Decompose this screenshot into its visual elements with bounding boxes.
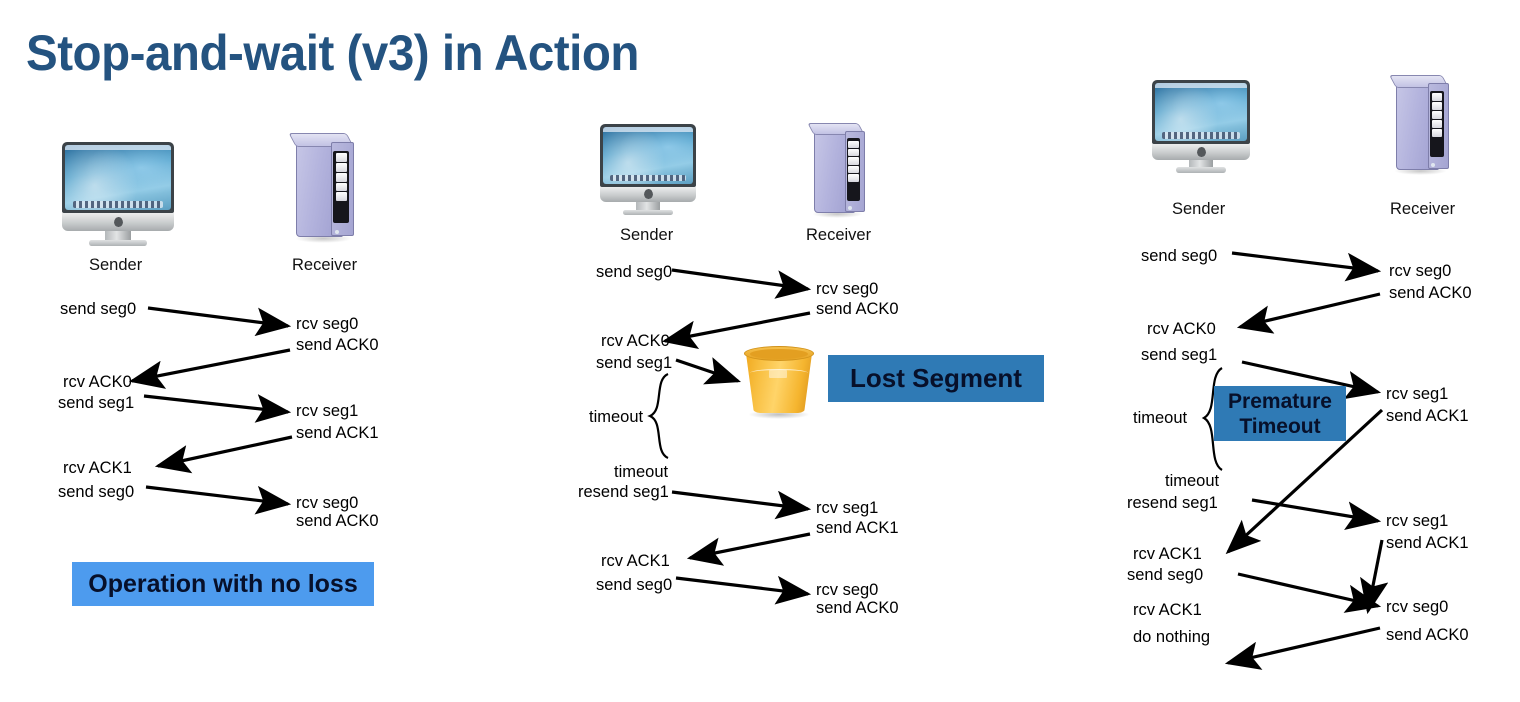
event-label: send seg0: [596, 262, 672, 282]
tower-drive-bay: [848, 141, 858, 149]
tower-drive-bay: [336, 192, 348, 201]
event-label: send ACK0: [816, 299, 899, 319]
imac-dock: [73, 201, 162, 208]
event-label: send seg1: [596, 353, 672, 373]
event-label: rcv ACK1: [63, 458, 132, 478]
tower-drive-bay: [1432, 102, 1443, 110]
event-label: rcv seg0: [1386, 597, 1448, 617]
sender-label: Sender: [620, 226, 673, 245]
event-label: resend seg1: [1127, 493, 1218, 513]
tower-drive-bay: [336, 173, 348, 182]
arrow-c1-ack1: [158, 437, 292, 466]
tower-drive-panel: [847, 138, 861, 201]
event-label: rcv seg1: [816, 498, 878, 518]
receiver-label: Receiver: [806, 226, 871, 245]
imac-chin: [1152, 144, 1250, 160]
event-label: send seg0: [596, 575, 672, 595]
event-label: send seg1: [1141, 345, 1217, 365]
tower-server-icon: [292, 132, 360, 242]
imac-stand-foot: [1176, 167, 1227, 173]
imac-computer-icon: [600, 124, 696, 216]
tower-drive-bay: [848, 166, 858, 174]
tower-drive-bay: [1432, 93, 1443, 101]
tower-drive-bay: [1432, 111, 1443, 119]
arrow-c2-seg0: [672, 270, 808, 289]
arrow-c2-resend: [672, 492, 808, 509]
arrow-c1-ack0: [132, 350, 290, 381]
arrow-c3-seg0: [1232, 253, 1378, 271]
event-label: rcv ACK1: [601, 551, 670, 571]
tower-drive-panel: [333, 151, 349, 224]
arrow-c1-seg0: [148, 308, 288, 326]
event-label: send ACK0: [1386, 625, 1469, 645]
event-label: send seg1: [58, 393, 134, 413]
imac-screen: [1152, 80, 1250, 144]
imac-menubar: [603, 127, 693, 132]
apple-logo-icon: [644, 189, 653, 199]
event-label: resend seg1: [578, 482, 669, 502]
event-label: rcv ACK1: [1133, 600, 1202, 620]
slide-canvas: Stop-and-wait (v3) in Action Sender Rece…: [0, 0, 1520, 702]
imac-screen: [600, 124, 696, 187]
event-label: rcv seg1: [1386, 511, 1448, 531]
tower-server-icon: [1392, 74, 1454, 174]
arrow-c2-seg1lost: [676, 360, 738, 381]
imac-screen: [62, 142, 174, 213]
arrow-c2-seg0b: [676, 578, 808, 594]
arrow-c3-seg0b: [1238, 574, 1378, 606]
sender-label: Sender: [89, 256, 142, 275]
tower-drive-bay: [1432, 129, 1443, 137]
arrow-c3-resend: [1252, 500, 1378, 521]
imac-dock: [1162, 132, 1239, 138]
event-label: rcv seg1: [296, 401, 358, 421]
event-label: rcv ACK0: [63, 372, 132, 392]
imac-stand-neck: [1189, 160, 1213, 168]
event-label: send ACK0: [296, 335, 379, 355]
event-label: rcv seg1: [1386, 384, 1448, 404]
event-label: rcv seg0: [296, 314, 358, 334]
trash-bin-icon: [742, 343, 816, 417]
arrow-c3-ack0b: [1228, 628, 1380, 663]
tower-drive-bay: [848, 157, 858, 165]
event-label: rcv seg0: [816, 580, 878, 600]
event-label: send ACK0: [1389, 283, 1472, 303]
event-label: rcv ACK1: [1133, 544, 1202, 564]
arrow-c1-seg0b: [146, 487, 288, 504]
event-label: send seg0: [1127, 565, 1203, 585]
tower-drive-bay: [1432, 120, 1443, 128]
imac-wallpaper: [603, 127, 693, 184]
arrow-c2-ack0: [665, 313, 810, 341]
apple-logo-icon: [114, 217, 123, 227]
imac-stand-neck: [636, 202, 659, 209]
event-label: send ACK1: [296, 423, 379, 443]
timeout-brace-label: timeout: [1133, 408, 1187, 428]
status-badge-lost-segment: Lost Segment: [828, 355, 1044, 402]
event-label: send ACK1: [1386, 406, 1469, 426]
event-label: send ACK1: [816, 518, 899, 538]
sender-label: Sender: [1172, 200, 1225, 219]
imac-menubar: [1155, 83, 1247, 88]
event-label: timeout: [1165, 471, 1219, 491]
imac-stand-neck: [105, 231, 132, 239]
imac-wallpaper: [1155, 83, 1247, 141]
imac-menubar: [65, 145, 171, 150]
imac-computer-icon: [1152, 80, 1250, 174]
imac-chin: [600, 187, 696, 203]
premature-line-1: Premature: [1228, 389, 1332, 414]
event-label: send seg0: [58, 482, 134, 502]
apple-logo-icon: [1197, 147, 1206, 157]
timeout-brace-c2: [650, 374, 668, 458]
event-label: send ACK1: [1386, 533, 1469, 553]
imac-wallpaper: [65, 145, 171, 210]
timeout-brace-label: timeout: [589, 407, 643, 427]
arrow-c3-ack0: [1240, 294, 1380, 327]
arrow-c2-ack1: [690, 534, 810, 558]
receiver-label: Receiver: [1390, 200, 1455, 219]
event-label: rcv ACK0: [601, 331, 670, 351]
event-label: rcv seg0: [1389, 261, 1451, 281]
tower-drive-bay: [848, 149, 858, 157]
trash-opening: [750, 349, 808, 359]
tower-drive-bay: [336, 153, 348, 162]
imac-dock: [610, 175, 686, 181]
event-label: send seg0: [60, 299, 136, 319]
receiver-label: Receiver: [292, 256, 357, 275]
arrow-c1-seg1: [144, 396, 288, 412]
tower-drive-bay: [848, 174, 858, 182]
tower-drive-panel: [1430, 91, 1444, 157]
trash-label: [769, 370, 787, 378]
event-label: rcv ACK0: [1147, 319, 1216, 339]
tower-drive-bay: [336, 163, 348, 172]
event-label: rcv seg0: [296, 493, 358, 513]
premature-line-2: Timeout: [1239, 414, 1320, 439]
imac-stand-foot: [89, 240, 147, 246]
imac-computer-icon: [62, 142, 174, 247]
event-label: timeout: [614, 462, 668, 482]
imac-stand-foot: [623, 210, 673, 216]
tower-server-icon: [810, 122, 870, 217]
imac-chin: [62, 213, 174, 231]
event-label: do nothing: [1133, 627, 1210, 647]
page-title: Stop-and-wait (v3) in Action: [26, 24, 639, 82]
event-label: send ACK0: [296, 511, 379, 531]
event-label: send ACK0: [816, 598, 899, 618]
event-label: send seg0: [1141, 246, 1217, 266]
status-badge-no-loss: Operation with no loss: [72, 562, 374, 606]
event-label: rcv seg0: [816, 279, 878, 299]
status-badge-premature-timeout: Premature Timeout: [1214, 386, 1346, 441]
tower-drive-bay: [336, 183, 348, 192]
arrow-c3-ack1b: [1368, 540, 1382, 611]
